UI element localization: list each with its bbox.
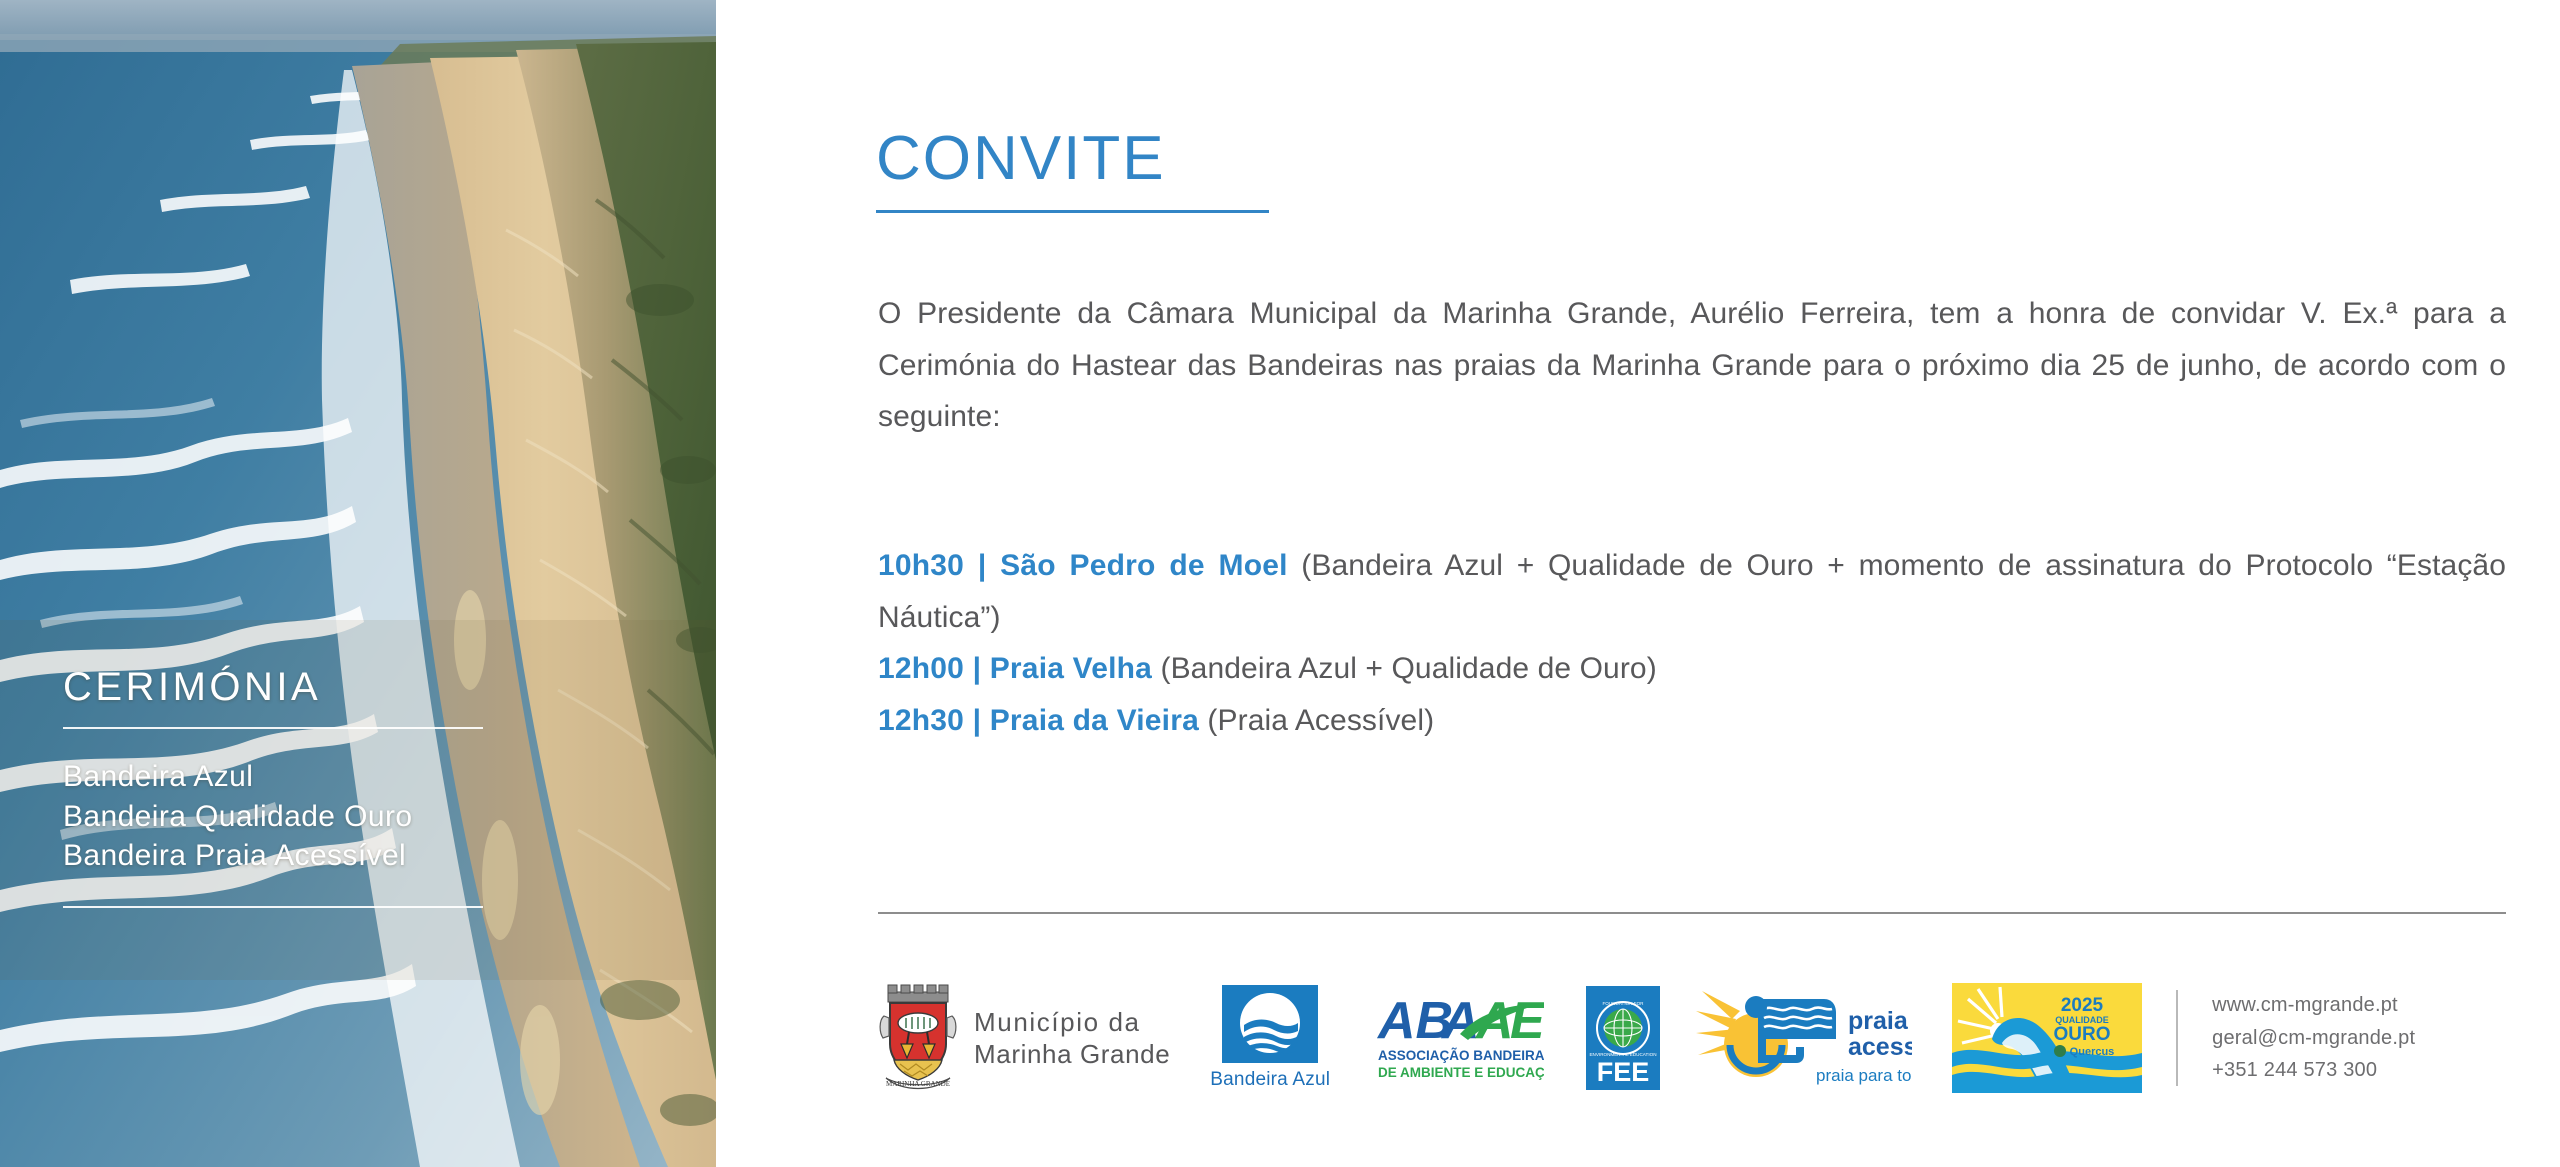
coat-of-arms-icon: MARINHA GRANDE <box>876 982 960 1094</box>
schedule-time-place: 12h00 | Praia Velha <box>878 652 1152 685</box>
svg-text:FOUNDATION FOR: FOUNDATION FOR <box>1603 1001 1645 1006</box>
flag-list: Bandeira Azul Bandeira Qualidade Ouro Ba… <box>63 757 493 876</box>
blue-flag-logo: Bandeira Azul <box>1210 985 1330 1091</box>
schedule-time-place: 12h30 | Praia da Vieira <box>878 704 1199 737</box>
schedule-item: 12h00 | Praia Velha (Bandeira Azul + Qua… <box>878 643 2506 695</box>
blue-flag-icon <box>1222 985 1318 1063</box>
schedule-item: 12h30 | Praia da Vieira (Praia Acessível… <box>878 695 2506 747</box>
body-block: O Presidente da Câmara Municipal da Mari… <box>878 288 2506 443</box>
abaae-icon: AB A A E ASSOCIAÇÃO BANDEIRA AZUL DE AMB… <box>1376 990 1544 1086</box>
footer-divider <box>878 912 2506 914</box>
crest-motto: MARINHA GRANDE <box>886 1080 950 1088</box>
footer-logos: MARINHA GRANDE Município da Marinha Gran… <box>876 958 2556 1118</box>
title-underline <box>876 210 1269 213</box>
fee-icon: FOUNDATION FOR ENVIRONMENTAL EDUCATION F… <box>1586 986 1660 1090</box>
coastline-photo-panel: CERIMÓNIA Bandeira Azul Bandeira Qualida… <box>0 0 716 1167</box>
contact-website[interactable]: www.cm-mgrande.pt <box>2212 989 2415 1021</box>
sidebar-caption-block: CERIMÓNIA Bandeira Azul Bandeira Qualida… <box>63 665 493 908</box>
municipality-wordmark: Município da Marinha Grande <box>974 1006 1170 1071</box>
blue-flag-caption: Bandeira Azul <box>1210 1069 1330 1091</box>
gold-grade: OURO <box>2054 1024 2111 1045</box>
contact-email[interactable]: geral@cm-mgrande.pt <box>2212 1022 2415 1054</box>
gold-quality-flag-icon: 2025 QUALIDADE OURO Quercus <box>1952 983 2142 1093</box>
contact-block: www.cm-mgrande.pt geral@cm-mgrande.pt +3… <box>2212 989 2415 1086</box>
invitation-page: CERIMÓNIA Bandeira Azul Bandeira Qualida… <box>0 0 2560 1167</box>
schedule-detail: (Praia Acessível) <box>1199 704 1434 737</box>
flag-list-item: Bandeira Azul <box>63 757 493 797</box>
svg-text:E: E <box>1510 992 1544 1050</box>
invitation-paragraph: O Presidente da Câmara Municipal da Mari… <box>878 288 2506 443</box>
abaae-line2: DE AMBIENTE E EDUCAÇÃO <box>1378 1065 1544 1080</box>
municipality-line2: Marinha Grande <box>974 1038 1170 1071</box>
fee-logo: FOUNDATION FOR ENVIRONMENTAL EDUCATION F… <box>1586 986 1660 1090</box>
gold-org: Quercus <box>2070 1046 2115 1058</box>
accessible-beach-icon: praia acessivel praia para todos <box>1696 985 1912 1091</box>
flag-list-item: Bandeira Qualidade Ouro <box>63 797 493 837</box>
sidebar-divider-top <box>63 727 483 729</box>
ceremony-heading: CERIMÓNIA <box>63 665 493 709</box>
svg-text:A: A <box>1440 992 1480 1050</box>
title-block: CONVITE <box>876 128 1269 213</box>
content-area: CONVITE O Presidente da Câmara Municipal… <box>716 0 2560 1167</box>
schedule-detail: (Bandeira Azul + Qualidade de Ouro) <box>1152 652 1657 685</box>
fee-acronym: FEE <box>1597 1057 1650 1087</box>
aerial-coastline-photo <box>0 0 716 1167</box>
municipality-line1: Município da <box>974 1006 1170 1039</box>
page-title: CONVITE <box>876 128 1269 190</box>
municipality-logo: MARINHA GRANDE Município da Marinha Gran… <box>876 982 1170 1094</box>
contact-phone: +351 244 573 300 <box>2212 1054 2415 1086</box>
abaae-line1: ASSOCIAÇÃO BANDEIRA AZUL <box>1378 1048 1544 1063</box>
schedule-time-place: 10h30 | São Pedro de Moel <box>878 549 1288 582</box>
quercus-mark: Quercus <box>2054 1045 2114 1058</box>
schedule-list: 10h30 | São Pedro de Moel (Bandeira Azul… <box>878 540 2506 746</box>
praia-acessivel-logo: praia acessivel praia para todos <box>1696 985 1912 1091</box>
abaae-logo: AB A A E ASSOCIAÇÃO BANDEIRA AZUL DE AMB… <box>1376 990 1544 1086</box>
gold-quality-logo: 2025 QUALIDADE OURO Quercus <box>1952 983 2142 1093</box>
praia-line1: praia <box>1848 1007 1909 1035</box>
gold-year: 2025 <box>2061 995 2104 1016</box>
footer-separator <box>2176 990 2178 1086</box>
flag-list-item: Bandeira Praia Acessível <box>63 836 493 876</box>
praia-tagline: praia para todos <box>1816 1066 1912 1085</box>
sidebar-divider-bottom <box>63 906 483 908</box>
schedule-item: 10h30 | São Pedro de Moel (Bandeira Azul… <box>878 540 2506 643</box>
praia-line2: acessivel <box>1848 1033 1912 1061</box>
